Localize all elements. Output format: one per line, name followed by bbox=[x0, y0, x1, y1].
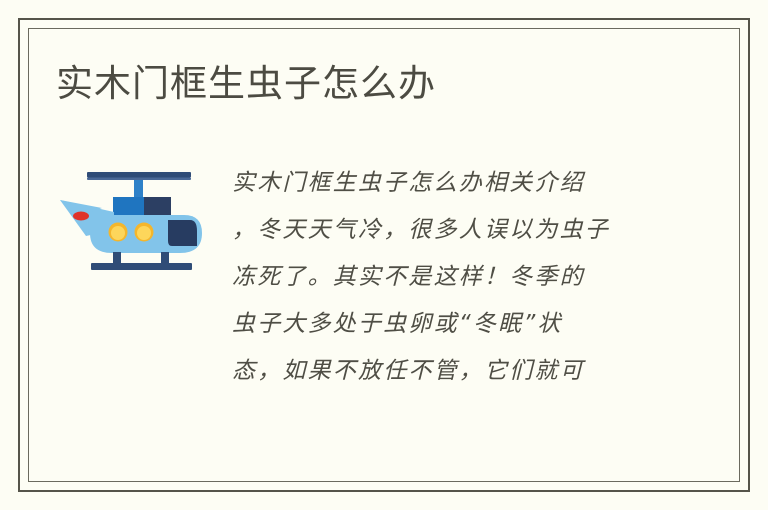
page-title: 实木门框生虫子怎么办 bbox=[56, 60, 436, 108]
body-line: 虫子大多处于虫卵或“冬眠”状 bbox=[232, 301, 662, 348]
article-body: 实木门框生虫子怎么办相关介绍 ，冬天天气冷，很多人误以为虫子 冻死了。其实不是这… bbox=[232, 160, 662, 395]
article-card: 实木门框生虫子怎么办 bbox=[0, 0, 768, 510]
body-line: 态，如果不放任不管，它们就可 bbox=[232, 348, 662, 395]
body-line: 实木门框生虫子怎么办相关介绍 bbox=[232, 160, 662, 207]
article-content: 实木门框生虫子怎么办相关介绍 ，冬天天气冷，很多人误以为虫子 冻死了。其实不是这… bbox=[56, 160, 676, 420]
body-line: ，冬天天气冷，很多人误以为虫子 bbox=[232, 207, 662, 254]
helicopter-icon bbox=[56, 164, 216, 279]
body-line: 冻死了。其实不是这样！冬季的 bbox=[232, 254, 662, 301]
